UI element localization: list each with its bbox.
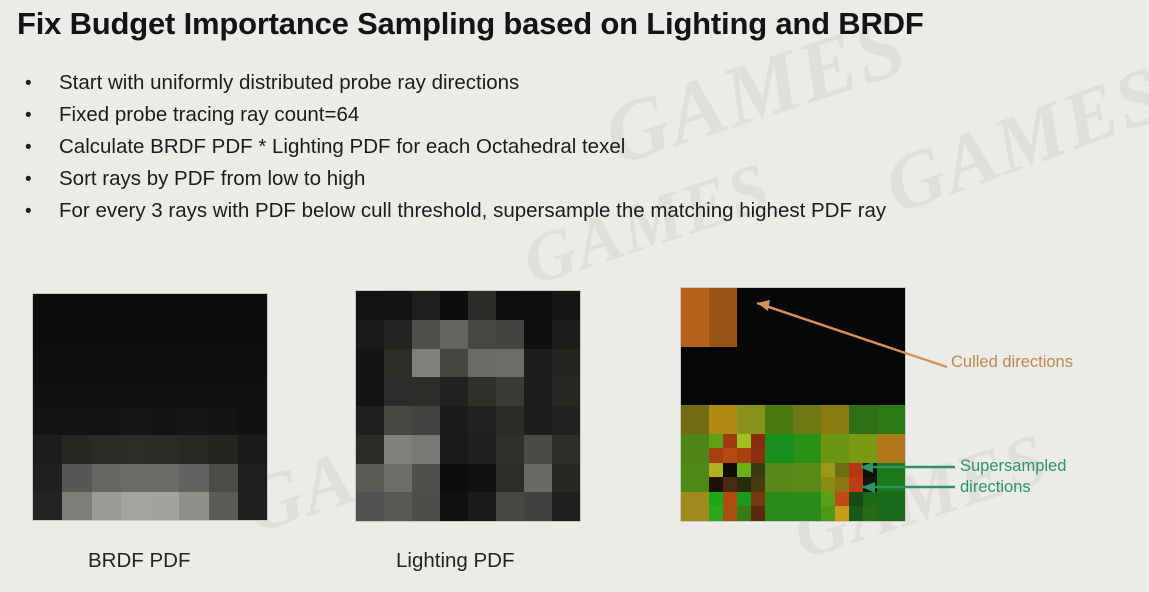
texel <box>150 294 179 322</box>
texel <box>356 320 384 349</box>
texel <box>384 492 412 521</box>
texel <box>793 434 821 463</box>
texel <box>468 435 496 464</box>
texel <box>62 407 91 435</box>
texel <box>33 407 62 435</box>
texel <box>150 351 179 379</box>
texel <box>33 492 62 520</box>
texel <box>877 434 905 463</box>
supersampled-line-1: Supersampled <box>960 456 1066 477</box>
texel <box>150 379 179 407</box>
texel <box>552 492 580 521</box>
texel <box>384 406 412 435</box>
texel-subsample <box>709 434 723 449</box>
texel <box>121 407 150 435</box>
texel <box>33 351 62 379</box>
supersampled-texel <box>737 463 765 492</box>
texel <box>412 377 440 406</box>
texel <box>440 464 468 493</box>
texel <box>412 349 440 378</box>
texel <box>356 349 384 378</box>
texel <box>524 291 552 320</box>
bullet-marker-icon: • <box>17 68 59 100</box>
texel <box>121 492 150 520</box>
octahedral-result-image <box>681 288 905 521</box>
texel <box>121 294 150 322</box>
texel <box>552 464 580 493</box>
texel-subsample <box>751 477 765 492</box>
texel <box>765 434 793 463</box>
texel-subsample <box>821 492 835 507</box>
texel <box>412 291 440 320</box>
list-item-label: Sort rays by PDF from low to high <box>59 163 365 195</box>
texel <box>849 405 877 434</box>
octahedral-bottom-half <box>681 405 905 522</box>
lighting-pdf-image <box>356 291 580 521</box>
supersampled-line-2: directions <box>960 477 1066 498</box>
texel <box>496 377 524 406</box>
texel <box>552 406 580 435</box>
texel <box>468 377 496 406</box>
texel <box>821 405 849 434</box>
texel <box>62 294 91 322</box>
culled-texel <box>709 288 737 347</box>
texel <box>356 291 384 320</box>
texel <box>356 464 384 493</box>
list-item: • Start with uniformly distributed probe… <box>17 67 1137 99</box>
texel <box>793 492 821 521</box>
texel <box>238 435 267 463</box>
list-item-label: For every 3 rays with PDF below cull thr… <box>59 195 886 227</box>
lighting-texel-grid <box>356 291 580 521</box>
texel <box>468 349 496 378</box>
texel-subsample <box>835 506 849 521</box>
texel <box>681 492 709 521</box>
texel <box>793 463 821 492</box>
texel-subsample <box>849 492 863 507</box>
texel-subsample <box>863 463 877 478</box>
texel <box>62 322 91 350</box>
texel <box>849 434 877 463</box>
texel <box>62 492 91 520</box>
texel <box>496 406 524 435</box>
texel <box>356 435 384 464</box>
slide-title: Fix Budget Importance Sampling based on … <box>17 6 924 42</box>
texel <box>62 351 91 379</box>
texel <box>238 379 267 407</box>
texel <box>552 435 580 464</box>
supersampled-texel <box>709 463 737 492</box>
texel-subsample <box>821 506 835 521</box>
texel <box>62 464 91 492</box>
texel <box>209 492 238 520</box>
texel <box>121 464 150 492</box>
texel <box>92 407 121 435</box>
texel <box>384 464 412 493</box>
supersampled-texel <box>737 434 765 463</box>
texel <box>524 320 552 349</box>
texel <box>238 351 267 379</box>
texel <box>150 322 179 350</box>
texel <box>92 492 121 520</box>
texel-subsample <box>737 477 751 492</box>
texel <box>92 294 121 322</box>
texel <box>384 349 412 378</box>
texel <box>209 294 238 322</box>
texel <box>552 377 580 406</box>
texel <box>524 406 552 435</box>
culled-texel <box>681 288 709 347</box>
texel <box>496 291 524 320</box>
texel <box>209 407 238 435</box>
texel-subsample <box>723 434 737 449</box>
texel-subsample <box>863 506 877 521</box>
texel <box>179 435 208 463</box>
texel <box>440 406 468 435</box>
texel-subsample <box>751 463 765 478</box>
supersampled-texel <box>737 492 765 521</box>
texel <box>737 405 765 434</box>
texel <box>412 406 440 435</box>
bullet-marker-icon: • <box>17 132 59 164</box>
texel <box>496 464 524 493</box>
supersampled-texel <box>849 463 877 492</box>
texel <box>468 291 496 320</box>
supersampled-directions-annotation: Supersampled directions <box>960 456 1066 498</box>
culled-directions-texels <box>681 288 737 347</box>
texel <box>150 492 179 520</box>
texel-subsample <box>863 477 877 492</box>
texel <box>209 464 238 492</box>
texel <box>440 349 468 378</box>
texel-subsample <box>737 463 751 478</box>
texel-subsample <box>709 492 723 507</box>
texel <box>709 405 737 434</box>
texel <box>877 405 905 434</box>
texel <box>33 435 62 463</box>
texel-subsample <box>737 434 751 449</box>
texel <box>440 492 468 521</box>
texel <box>765 405 793 434</box>
texel <box>238 464 267 492</box>
texel <box>524 464 552 493</box>
texel <box>62 379 91 407</box>
bullet-marker-icon: • <box>17 196 59 228</box>
texel-subsample <box>723 477 737 492</box>
texel <box>681 405 709 434</box>
supersampled-texel <box>821 463 849 492</box>
texel <box>356 406 384 435</box>
texel-subsample <box>849 477 863 492</box>
texel <box>33 379 62 407</box>
texel-subsample <box>723 463 737 478</box>
supersampled-texel <box>821 492 849 521</box>
texel <box>552 291 580 320</box>
texel <box>440 291 468 320</box>
texel-subsample <box>835 492 849 507</box>
list-item: • Sort rays by PDF from low to high <box>17 163 1137 195</box>
texel-subsample <box>709 477 723 492</box>
texel-subsample <box>849 506 863 521</box>
texel <box>524 435 552 464</box>
texel-subsample <box>751 492 765 507</box>
texel <box>524 377 552 406</box>
texel <box>179 492 208 520</box>
texel <box>468 464 496 493</box>
texel <box>384 435 412 464</box>
brdf-pdf-caption: BRDF PDF <box>88 549 191 573</box>
texel <box>384 320 412 349</box>
texel <box>238 294 267 322</box>
texel-subsample <box>751 448 765 463</box>
texel <box>209 379 238 407</box>
texel <box>179 351 208 379</box>
texel-subsample <box>835 477 849 492</box>
texel <box>33 322 62 350</box>
texel <box>179 322 208 350</box>
texel-subsample <box>849 463 863 478</box>
texel <box>468 320 496 349</box>
texel <box>877 463 905 492</box>
texel-subsample <box>821 463 835 478</box>
texel <box>412 435 440 464</box>
texel <box>150 407 179 435</box>
texel <box>412 464 440 493</box>
texel <box>92 435 121 463</box>
texel <box>468 492 496 521</box>
texel <box>238 492 267 520</box>
texel <box>440 320 468 349</box>
list-item: • Fixed probe tracing ray count=64 <box>17 99 1137 131</box>
texel-subsample <box>751 434 765 449</box>
texel <box>238 407 267 435</box>
texel-subsample <box>751 506 765 521</box>
texel <box>121 351 150 379</box>
texel <box>681 463 709 492</box>
lighting-pdf-caption: Lighting PDF <box>396 549 515 573</box>
texel <box>552 349 580 378</box>
bullet-marker-icon: • <box>17 164 59 196</box>
texel <box>92 351 121 379</box>
texel <box>209 322 238 350</box>
texel <box>92 322 121 350</box>
texel <box>121 379 150 407</box>
texel <box>765 463 793 492</box>
texel-subsample <box>821 477 835 492</box>
texel <box>524 492 552 521</box>
texel <box>496 349 524 378</box>
texel <box>496 492 524 521</box>
list-item-label: Start with uniformly distributed probe r… <box>59 67 519 99</box>
brdf-texel-grid <box>33 294 267 520</box>
texel <box>209 435 238 463</box>
texel <box>356 377 384 406</box>
texel <box>121 435 150 463</box>
texel <box>384 377 412 406</box>
texel-subsample <box>723 448 737 463</box>
texel <box>681 434 709 463</box>
texel <box>238 322 267 350</box>
texel-subsample <box>709 463 723 478</box>
bullet-list: • Start with uniformly distributed probe… <box>17 67 1137 227</box>
texel <box>121 322 150 350</box>
culled-directions-annotation: Culled directions <box>951 353 1073 372</box>
supersampled-texel <box>849 492 877 521</box>
texel <box>440 435 468 464</box>
supersampled-texel <box>709 492 737 521</box>
texel-subsample <box>709 448 723 463</box>
texel <box>179 294 208 322</box>
texel <box>33 294 62 322</box>
texel <box>821 434 849 463</box>
texel <box>468 406 496 435</box>
texel-subsample <box>737 506 751 521</box>
texel <box>412 320 440 349</box>
texel-subsample <box>723 492 737 507</box>
texel <box>877 492 905 521</box>
texel-subsample <box>863 492 877 507</box>
texel <box>150 464 179 492</box>
texel <box>209 351 238 379</box>
texel <box>150 435 179 463</box>
texel <box>496 435 524 464</box>
texel <box>765 492 793 521</box>
texel <box>356 492 384 521</box>
texel <box>793 405 821 434</box>
list-item: • Calculate BRDF PDF * Lighting PDF for … <box>17 131 1137 163</box>
brdf-pdf-image <box>33 294 267 520</box>
list-item: • For every 3 rays with PDF below cull t… <box>17 195 1137 227</box>
bullet-marker-icon: • <box>17 100 59 132</box>
texel <box>384 291 412 320</box>
texel <box>33 464 62 492</box>
texel <box>62 435 91 463</box>
texel-subsample <box>835 463 849 478</box>
texel <box>524 349 552 378</box>
texel <box>179 407 208 435</box>
texel <box>179 379 208 407</box>
supersampled-texel <box>709 434 737 463</box>
texel <box>92 464 121 492</box>
texel <box>92 379 121 407</box>
texel <box>552 320 580 349</box>
texel <box>496 320 524 349</box>
texel-subsample <box>737 492 751 507</box>
texel-subsample <box>723 506 737 521</box>
texel <box>412 492 440 521</box>
texel <box>440 377 468 406</box>
texel <box>179 464 208 492</box>
list-item-label: Fixed probe tracing ray count=64 <box>59 99 359 131</box>
texel-subsample <box>737 448 751 463</box>
list-item-label: Calculate BRDF PDF * Lighting PDF for ea… <box>59 131 625 163</box>
texel-subsample <box>709 506 723 521</box>
